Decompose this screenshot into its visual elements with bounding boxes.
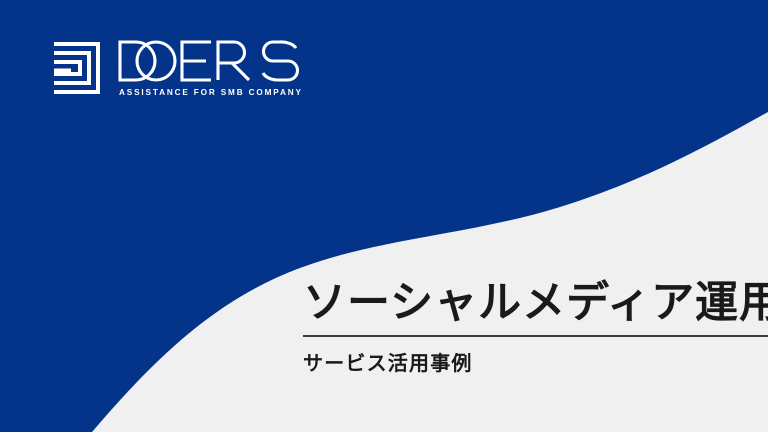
brand-logo: ASSISTANCE FOR SMB COMPANY: [52, 38, 303, 97]
title-slide: ASSISTANCE FOR SMB COMPANY ソーシャルメディア運用 サ…: [0, 0, 768, 432]
logo-tagline: ASSISTANCE FOR SMB COMPANY: [119, 88, 303, 97]
page-subtitle: サービス活用事例: [303, 337, 768, 375]
square-spiral-maze-icon: [52, 40, 102, 96]
logo-text-group: ASSISTANCE FOR SMB COMPANY: [116, 38, 303, 97]
title-block: ソーシャルメディア運用 サービス活用事例: [303, 280, 768, 375]
page-title: ソーシャルメディア運用: [303, 280, 768, 326]
doers-wordmark: [116, 38, 302, 84]
